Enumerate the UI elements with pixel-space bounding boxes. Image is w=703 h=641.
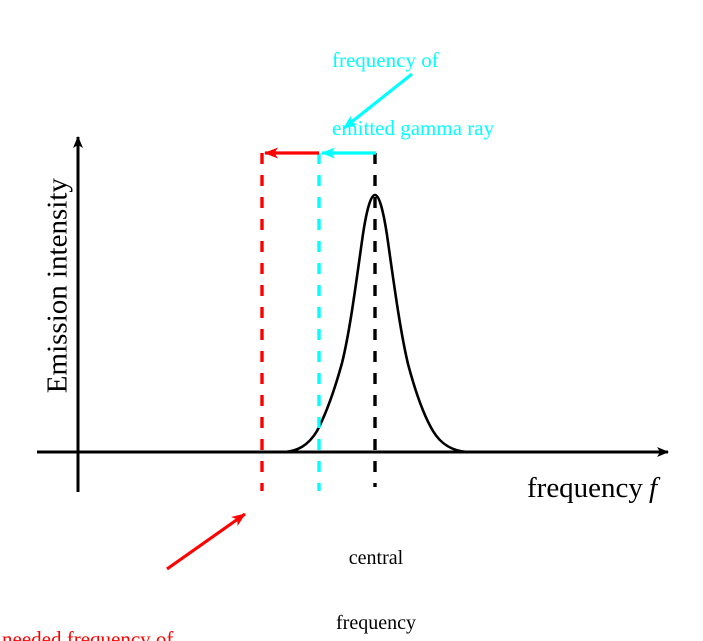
absorbed-label-line1: needed frequency of [2, 628, 177, 641]
central-label-line2: frequency [305, 613, 447, 635]
absorbed-gamma-ray-label: needed frequency of absorbed gamma ray [2, 583, 177, 641]
central-label-line1: central [305, 548, 447, 570]
central-frequency-label: central frequency [305, 505, 447, 641]
absorbed-label-pointer-arrow [167, 514, 245, 569]
x-axis-label-symbol: f [643, 472, 657, 504]
y-axis-label: Emission intensity [42, 146, 73, 426]
figure-canvas: frequency of emitted gamma ray needed fr… [0, 0, 703, 641]
emitted-gamma-ray-label: frequency of emitted gamma ray [332, 4, 494, 185]
x-axis-label-text: frequency [527, 472, 643, 504]
emitted-label-line2: emitted gamma ray [332, 117, 494, 140]
emitted-label-line1: frequency of [332, 49, 494, 72]
x-axis-label: frequencyf [527, 473, 657, 504]
emission-curve [285, 195, 467, 452]
